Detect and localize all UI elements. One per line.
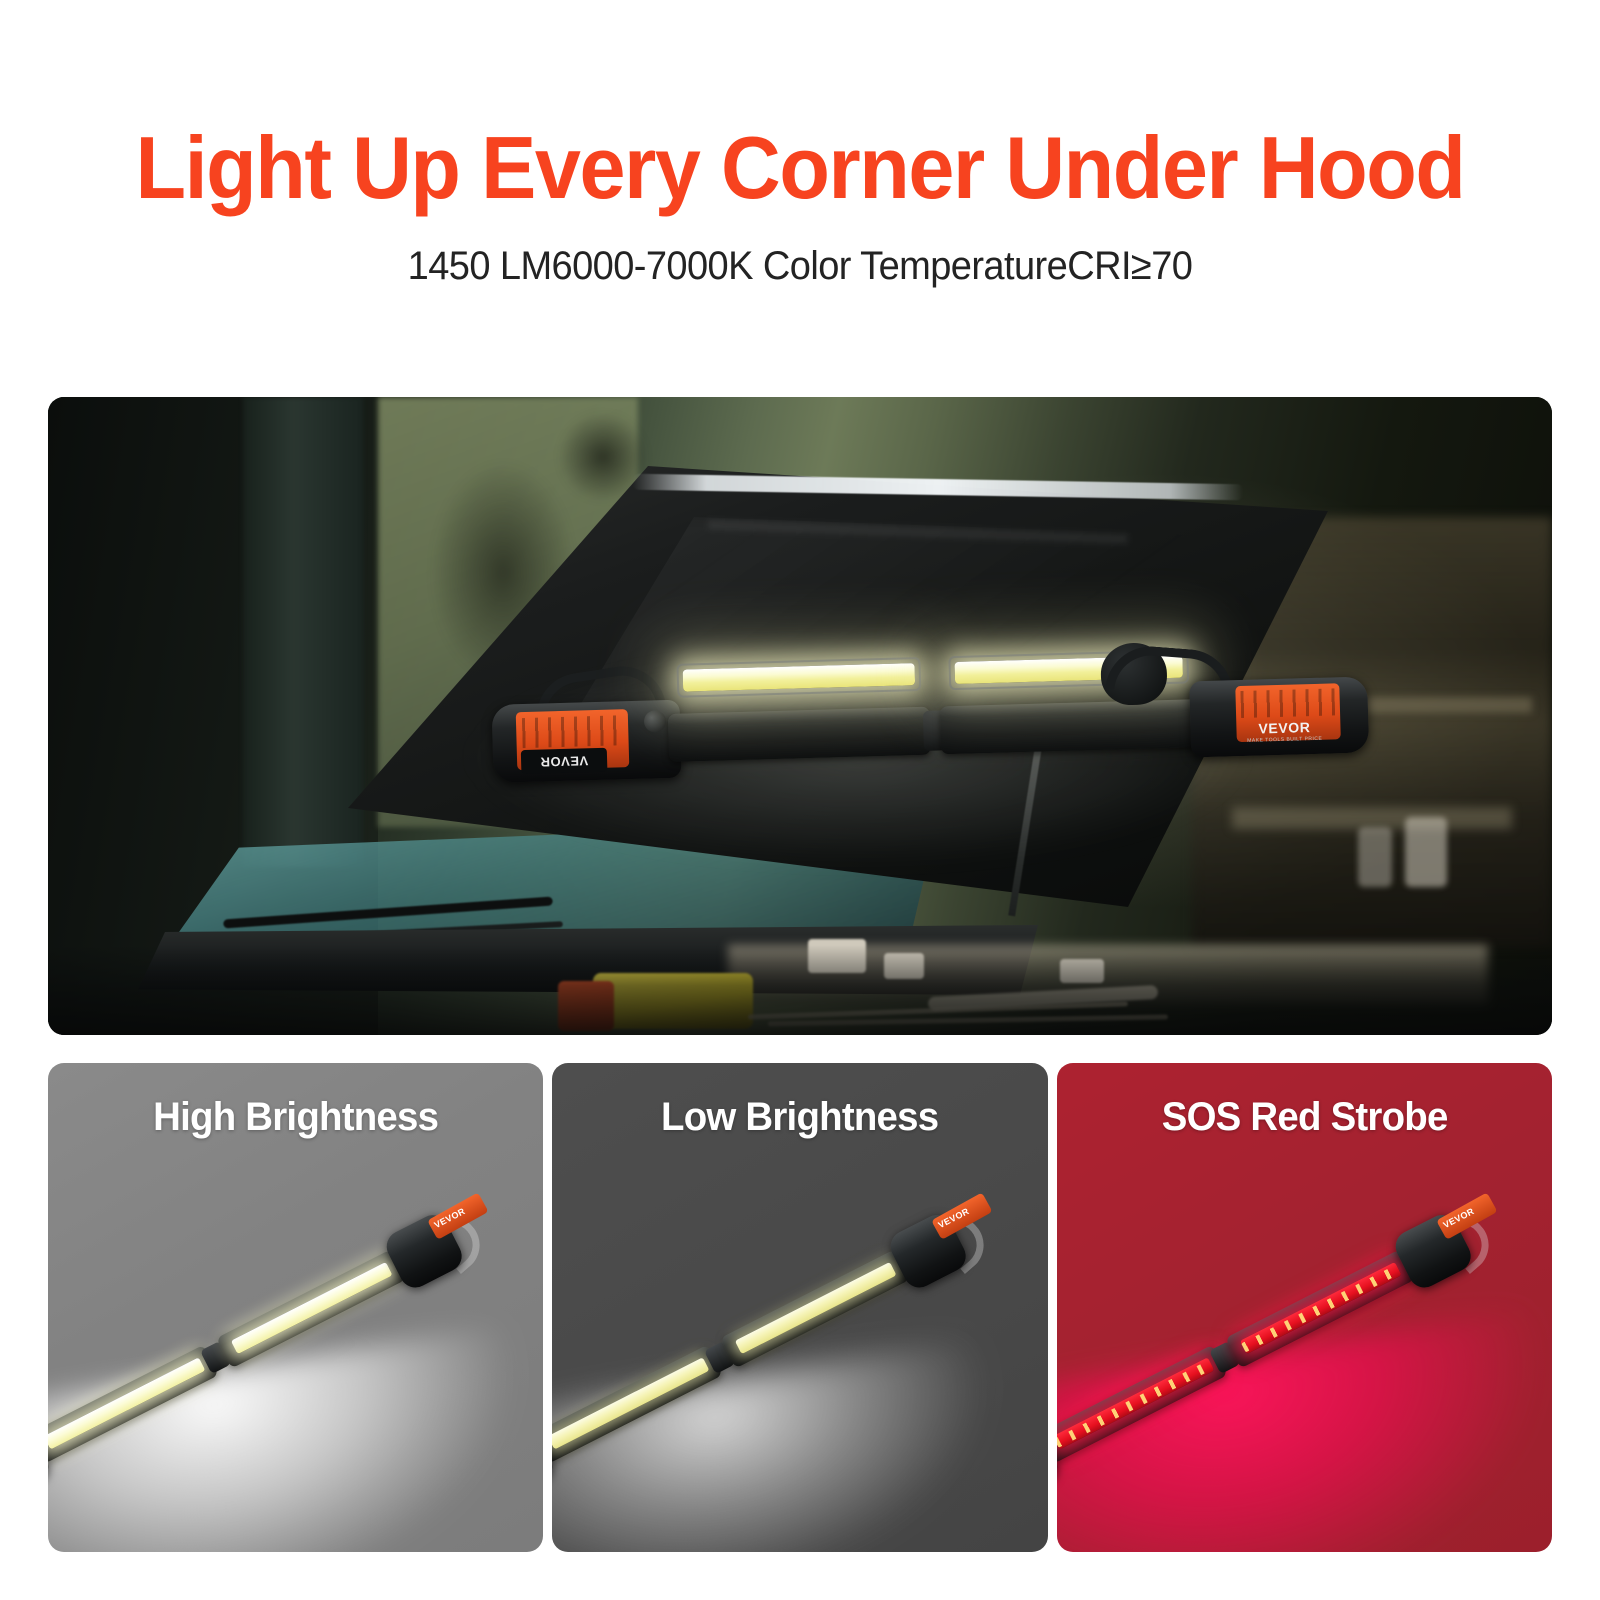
shelf-container-1 — [1405, 817, 1447, 887]
light-bar-body-high: VEVOR — [48, 1196, 511, 1481]
spec-lumens: 1450 LM — [408, 244, 552, 288]
cob-a-high — [48, 1357, 205, 1449]
spec-color-temperature: 6000-7000K Color Temperature — [552, 244, 1068, 288]
page-headline: Light Up Every Corner Under Hood — [48, 124, 1552, 212]
panel-label-high: High Brightness — [58, 1095, 534, 1140]
cob-frame-left — [676, 657, 921, 698]
brand-badge-left: VEVOR — [521, 748, 608, 774]
cob-b-high — [231, 1262, 393, 1354]
panel-low-brightness: Low Brightness VEVOR — [552, 1063, 1047, 1552]
brand-label-left: VEVOR — [540, 753, 588, 769]
light-bar-body-sos: VEVOR — [1057, 1196, 1520, 1481]
panel-sos-red-strobe: SOS Red Strobe VEVOR — [1057, 1063, 1552, 1552]
cob-a-low — [552, 1357, 709, 1449]
engine-bay-shadow — [48, 945, 1552, 1035]
spec-cri: CRI≥70 — [1067, 244, 1192, 288]
light-beam-high — [48, 1311, 543, 1552]
shelf-bar-lower — [1232, 807, 1512, 829]
garage-pillar — [243, 397, 363, 867]
led-dots-b-sos — [1241, 1265, 1401, 1353]
spec-subtitle: 1450 LM│6000-7000K Color Temperature│CRI… — [40, 246, 1560, 286]
hero-work-light: VEVOR VEVOR MAKE TOOLS BUILT PRICE — [466, 640, 1299, 793]
shelf-container-2 — [1358, 827, 1392, 887]
mode-panel-group: High Brightness VEVOR — [48, 1063, 1552, 1552]
brand-badge-right: VEVOR MAKE TOOLS BUILT PRICE — [1242, 718, 1327, 744]
panel-high-brightness: High Brightness VEVOR — [48, 1063, 543, 1552]
light-bar-low: VEVOR — [552, 1149, 1047, 1552]
cob-b-low — [735, 1262, 897, 1354]
light-bar-high: VEVOR — [48, 1149, 543, 1552]
brand-label-right: VEVOR — [1258, 719, 1310, 736]
light-bar-body-low: VEVOR — [552, 1196, 1015, 1481]
light-segment-right — [940, 699, 1199, 754]
light-beam-low — [552, 1324, 1047, 1552]
product-feature-page: Light Up Every Corner Under Hood 1450 LM… — [0, 0, 1600, 1600]
hero-image: VEVOR VEVOR MAKE TOOLS BUILT PRICE — [48, 397, 1552, 1035]
led-dots-a-sos — [1057, 1360, 1214, 1448]
panel-label-sos: SOS Red Strobe — [1067, 1095, 1543, 1140]
light-bar-sos: VEVOR — [1057, 1149, 1552, 1552]
light-segment-left — [668, 707, 931, 762]
panel-label-low: Low Brightness — [562, 1095, 1038, 1140]
